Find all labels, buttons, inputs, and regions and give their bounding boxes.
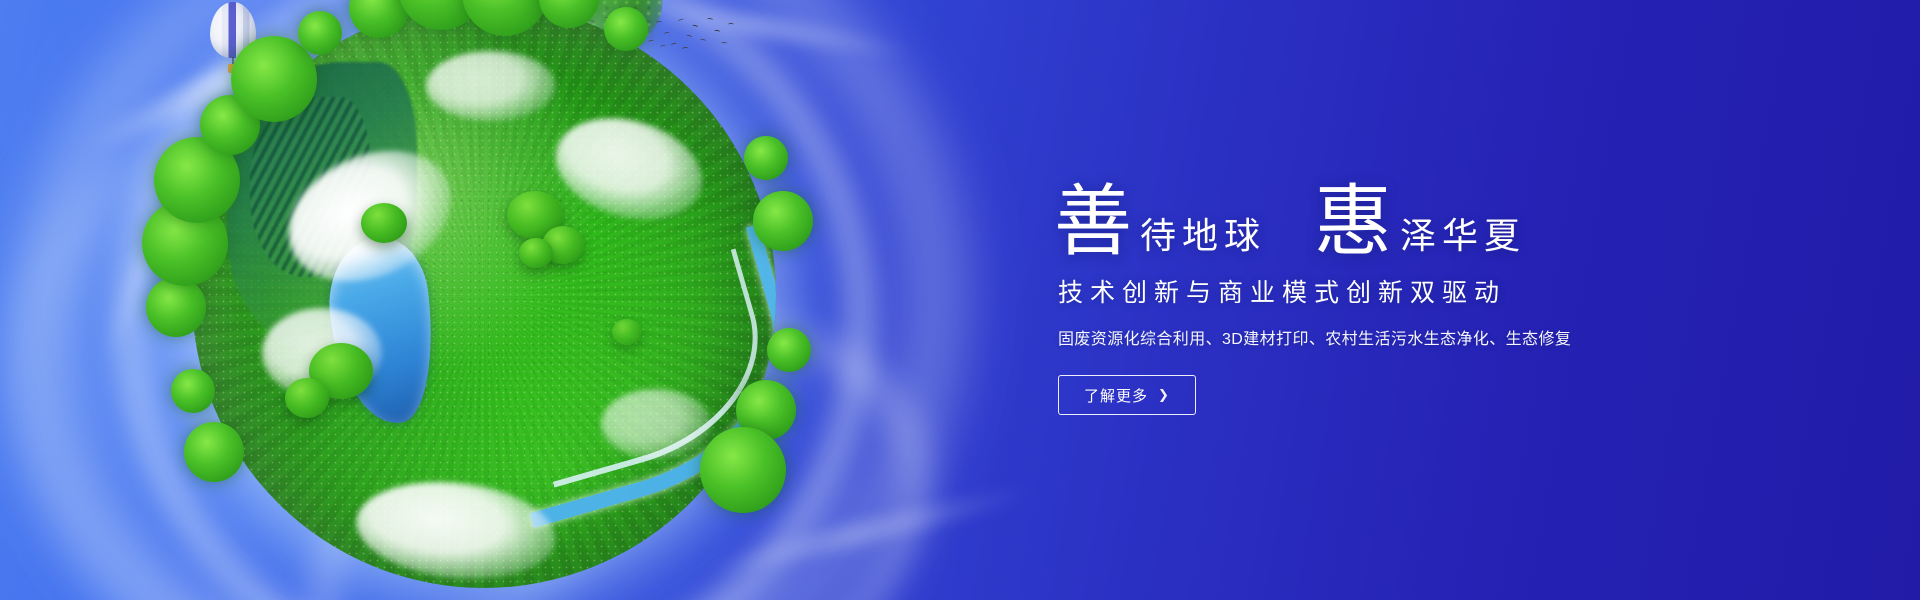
rim-tree-icon	[146, 277, 206, 337]
bird-flock-icon	[574, 14, 734, 54]
mountain-ridge	[227, 62, 417, 352]
cloud-patch	[601, 389, 711, 459]
tree-cluster	[361, 203, 407, 243]
rim-tree-icon	[700, 427, 786, 513]
bird-icon	[707, 18, 713, 22]
rim-tree-icon	[142, 200, 228, 286]
learn-more-button[interactable]: 了解更多 ❯	[1058, 375, 1196, 415]
bird-icon	[728, 23, 734, 26]
bird-icon	[605, 16, 611, 20]
bird-icon	[588, 19, 595, 24]
page-title: 善 待地球 惠 泽华夏	[1054, 185, 1818, 259]
headline-small-2: 泽华夏	[1392, 219, 1526, 255]
balloon-basket	[228, 64, 239, 73]
mountain-ridge-detail	[250, 97, 370, 277]
bird-icon	[628, 36, 634, 39]
balloon-envelope	[210, 2, 256, 58]
cloud-swirl	[0, 3, 718, 600]
grass-texture	[192, 4, 776, 588]
river-highlight	[505, 249, 776, 488]
hero-copy: 善 待地球 惠 泽华夏 技术创新与商业模式创新双驱动 固废资源化综合利用、3D建…	[1058, 0, 1818, 600]
cloud-streak	[97, 148, 193, 370]
page-subtitle: 技术创新与商业模式创新双驱动	[1058, 273, 1818, 309]
rim-tree-icon	[154, 137, 240, 223]
bird-icon	[682, 46, 688, 50]
learn-more-label: 了解更多	[1084, 385, 1148, 406]
grass-speckle	[192, 4, 776, 588]
rim-tree-icon	[298, 11, 342, 55]
balloon-rope	[232, 57, 234, 66]
rim-tree-icon	[462, 0, 548, 36]
tree-cluster	[507, 191, 563, 239]
cloud-streak	[702, 479, 1037, 583]
tree-cluster	[285, 378, 329, 418]
bird-icon	[618, 44, 624, 48]
cloud-swirl	[66, 0, 924, 600]
earth-globe	[192, 4, 776, 588]
hero-banner: 善 待地球 惠 泽华夏 技术创新与商业模式创新双驱动 固废资源化综合利用、3D建…	[0, 0, 1920, 600]
headline-big-2: 惠	[1314, 185, 1392, 259]
cloud-swirl	[247, 233, 992, 600]
lake-icon	[323, 233, 442, 428]
rim-tree-icon	[398, 0, 484, 30]
bird-icon	[678, 18, 685, 23]
earth-globe-illustration	[144, 0, 824, 600]
bird-icon	[660, 45, 666, 49]
rim-tree-icon	[753, 191, 813, 251]
tree-cluster	[612, 319, 642, 345]
lake-shore	[354, 236, 434, 440]
tree-cluster	[309, 343, 373, 399]
tree-cluster	[519, 238, 553, 268]
bird-icon	[714, 30, 720, 34]
chevron-right-icon: ❯	[1158, 389, 1170, 402]
page-description: 固废资源化综合利用、3D建材打印、农村生活污水生态净化、生态修复	[1058, 325, 1818, 349]
bird-icon	[671, 42, 678, 47]
headline-small-1: 待地球	[1132, 219, 1266, 255]
bird-icon	[634, 16, 640, 19]
cloud-patch	[351, 473, 560, 588]
river-icon	[470, 224, 776, 528]
bird-icon	[612, 34, 618, 38]
hot-air-balloon-icon	[210, 2, 256, 80]
cloud-streak	[160, 396, 540, 568]
bird-icon	[578, 25, 585, 30]
tree-cluster	[542, 226, 584, 264]
rim-tree-icon	[539, 0, 599, 28]
bird-icon	[596, 29, 603, 33]
rim-tree-icon	[349, 0, 409, 38]
bird-icon	[664, 31, 671, 35]
rim-tree-icon	[231, 36, 317, 122]
cloud-patch	[544, 102, 715, 236]
headline-big-1: 善	[1054, 185, 1132, 259]
bird-icon	[686, 34, 693, 39]
cloud-streak	[81, 0, 399, 161]
bird-icon	[620, 23, 626, 27]
bird-icon	[721, 42, 727, 45]
big-tree-canopy-icon	[412, 0, 662, 68]
bird-icon	[700, 38, 706, 42]
bird-icon	[642, 28, 648, 31]
bird-icon	[656, 21, 662, 25]
bird-icon	[648, 40, 654, 44]
cloud-patch	[268, 126, 473, 307]
rim-tree-icon	[184, 422, 244, 482]
sky-glow	[0, 0, 1120, 600]
cloud-swirl	[0, 0, 1048, 600]
rim-tree-icon	[767, 328, 811, 372]
cloud-streak	[621, 0, 920, 64]
cloud-patch	[262, 308, 382, 398]
bird-icon	[692, 24, 699, 28]
rim-tree-icon	[200, 95, 260, 155]
bird-icon	[594, 38, 600, 41]
rim-tree-icon	[736, 380, 796, 440]
rim-tree-icon	[744, 136, 788, 180]
big-tree-trunk-icon	[506, 24, 521, 134]
cloud-patch	[426, 51, 556, 121]
rim-tree-icon	[171, 369, 215, 413]
rim-tree-icon	[604, 7, 648, 51]
